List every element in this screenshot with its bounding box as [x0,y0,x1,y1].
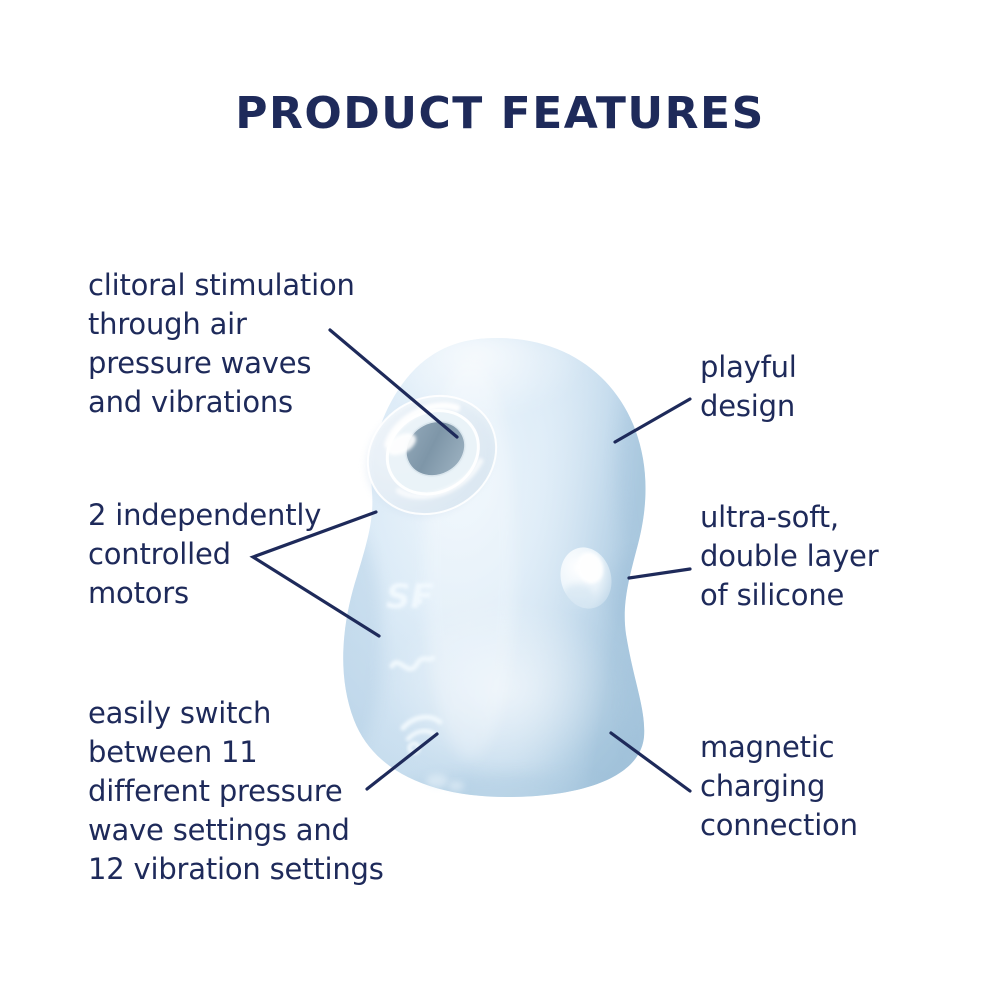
page-title: Product Features [0,88,1000,139]
feature-label-magnetic-charging: magnetic charging connection [700,728,950,845]
product-features-infographic: SF Product Features clit [0,0,1000,1000]
feature-label-playful-design: playful design [700,348,950,426]
feature-label-double-layer-silicone: ultra-soft, double layer of silicone [700,498,950,615]
feature-label-clitoral-stimulation: clitoral stimulation through air pressur… [88,266,388,422]
feature-label-pressure-wave-settings: easily switch between 11 different press… [88,694,418,889]
svg-text:SF: SF [386,577,434,617]
feature-label-independent-motors: 2 independently controlled motors [88,496,388,613]
brand-logo-sf: SF [386,577,434,617]
